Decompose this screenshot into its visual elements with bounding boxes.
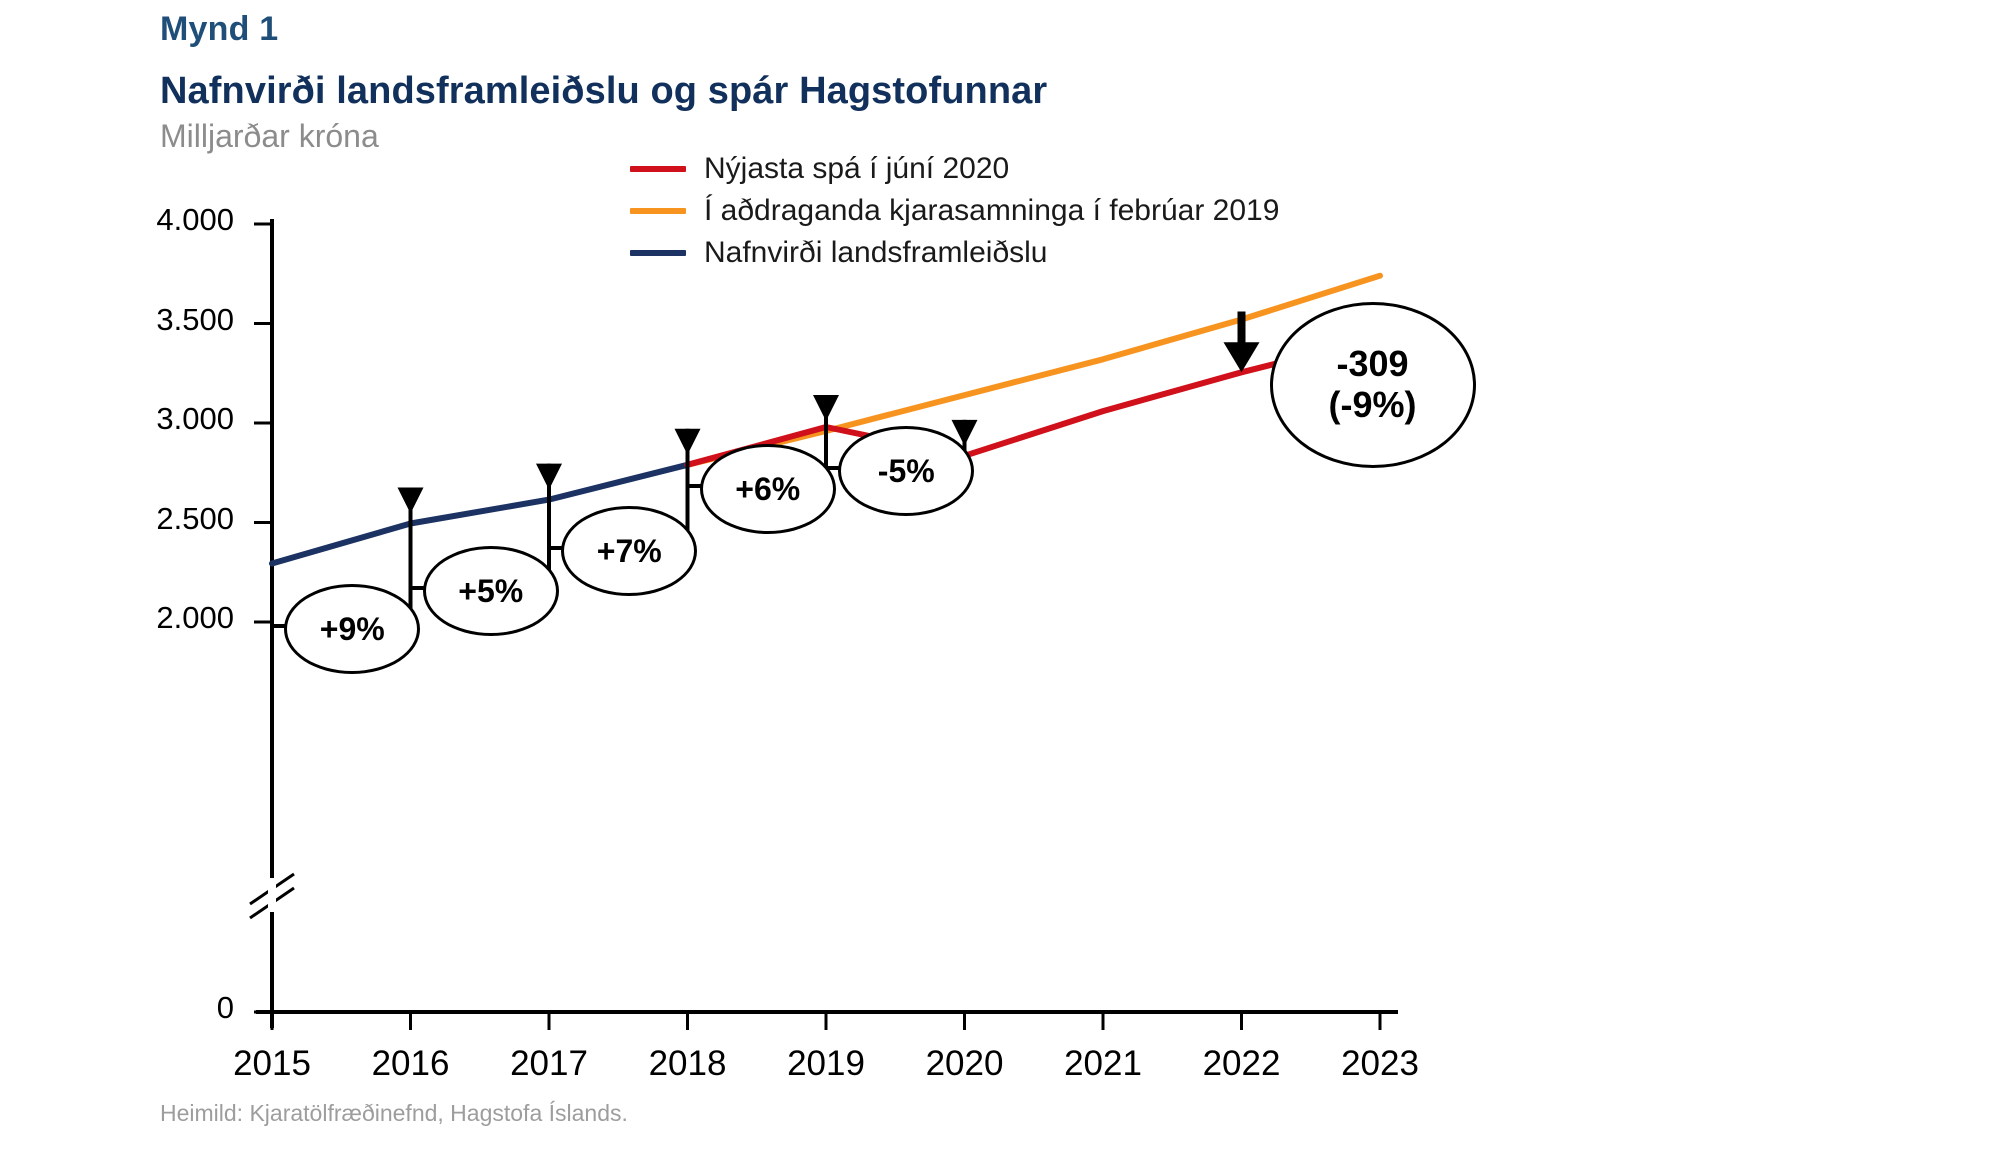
y-axis-tick-label: 3.500	[94, 302, 234, 338]
y-axis-tick-label: 3.000	[94, 401, 234, 437]
annotation-gap-percent: (-9%)	[1329, 385, 1417, 425]
annotation-bubble-growth: +5%	[423, 546, 559, 636]
annotation-bubble-growth: +6%	[700, 444, 836, 534]
y-axis-tick-label: 4.000	[94, 202, 234, 238]
annotation-gap-value: -309	[1336, 344, 1408, 384]
figure-root: Mynd 1 Nafnvirði landsframleiðslu og spá…	[0, 0, 2000, 1168]
y-axis-tick-label: 2.500	[94, 501, 234, 537]
y-axis-tick-label: 0	[94, 990, 234, 1026]
chart-plot	[0, 0, 2000, 1168]
annotation-bubble-gap: -309(-9%)	[1270, 302, 1476, 468]
annotation-bubble-growth: +7%	[561, 506, 697, 596]
annotation-bubble-growth: +9%	[284, 584, 420, 674]
annotation-bubble-growth: -5%	[838, 426, 974, 516]
x-axis-tick-label: 2023	[1290, 1044, 1470, 1084]
y-axis-tick-label: 2.000	[94, 600, 234, 636]
